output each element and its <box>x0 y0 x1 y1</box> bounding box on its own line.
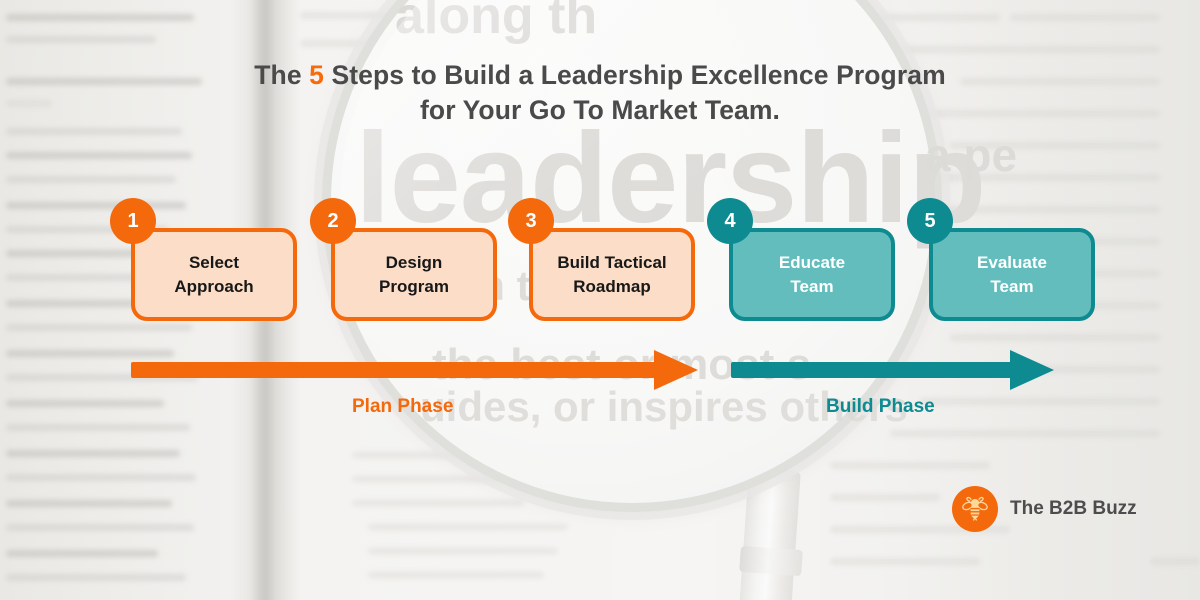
build-phase-label: Build Phase <box>826 396 935 418</box>
step-label-5-line2: Team <box>990 277 1033 296</box>
build-phase-arrow-shaft <box>731 362 1030 378</box>
step-label-2: Design Program <box>379 251 449 299</box>
step-label-5: Evaluate Team <box>977 251 1047 299</box>
plan-phase-arrow-head <box>654 350 698 390</box>
step-box-4[interactable]: Educate Team <box>729 228 895 321</box>
plan-phase-label: Plan Phase <box>352 396 453 418</box>
step-box-5[interactable]: Evaluate Team <box>929 228 1095 321</box>
step-box-2[interactable]: Design Program <box>331 228 497 321</box>
brand-name: The B2B Buzz <box>1010 498 1137 520</box>
build-phase-arrow-head <box>1010 350 1054 390</box>
step-badge-2: 2 <box>310 198 356 244</box>
step-label-5-line1: Evaluate <box>977 253 1047 272</box>
infographic-canvas: along th leadership a pe n th ty the bes… <box>0 0 1200 600</box>
step-label-3-line2: Roadmap <box>573 277 650 296</box>
step-box-1[interactable]: Select Approach <box>131 228 297 321</box>
title-prefix: The <box>254 60 309 90</box>
step-badge-3: 3 <box>508 198 554 244</box>
step-label-1-line2: Approach <box>174 277 253 296</box>
step-label-4-line1: Educate <box>779 253 845 272</box>
step-label-3: Build Tactical Roadmap <box>557 251 666 299</box>
step-label-3-line1: Build Tactical <box>557 253 666 272</box>
step-badge-5: 5 <box>907 198 953 244</box>
step-label-2-line1: Design <box>386 253 443 272</box>
step-label-1: Select Approach <box>174 251 253 299</box>
title-line2: for Your Go To Market Team. <box>420 95 780 125</box>
brand-logo[interactable]: The B2B Buzz <box>952 486 1137 532</box>
magnifier-handle-ring <box>739 546 803 576</box>
step-badge-1: 1 <box>110 198 156 244</box>
step-box-3[interactable]: Build Tactical Roadmap <box>529 228 695 321</box>
step-label-1-line1: Select <box>189 253 239 272</box>
bee-icon <box>952 486 998 532</box>
step-label-4-line2: Team <box>790 277 833 296</box>
page-title: The 5 Steps to Build a Leadership Excell… <box>0 58 1200 128</box>
title-highlight-number: 5 <box>309 60 324 90</box>
step-label-2-line2: Program <box>379 277 449 296</box>
step-label-4: Educate Team <box>779 251 845 299</box>
plan-phase-arrow-shaft <box>131 362 674 378</box>
step-badge-4: 4 <box>707 198 753 244</box>
title-suffix: Steps to Build a Leadership Excellence P… <box>324 60 946 90</box>
